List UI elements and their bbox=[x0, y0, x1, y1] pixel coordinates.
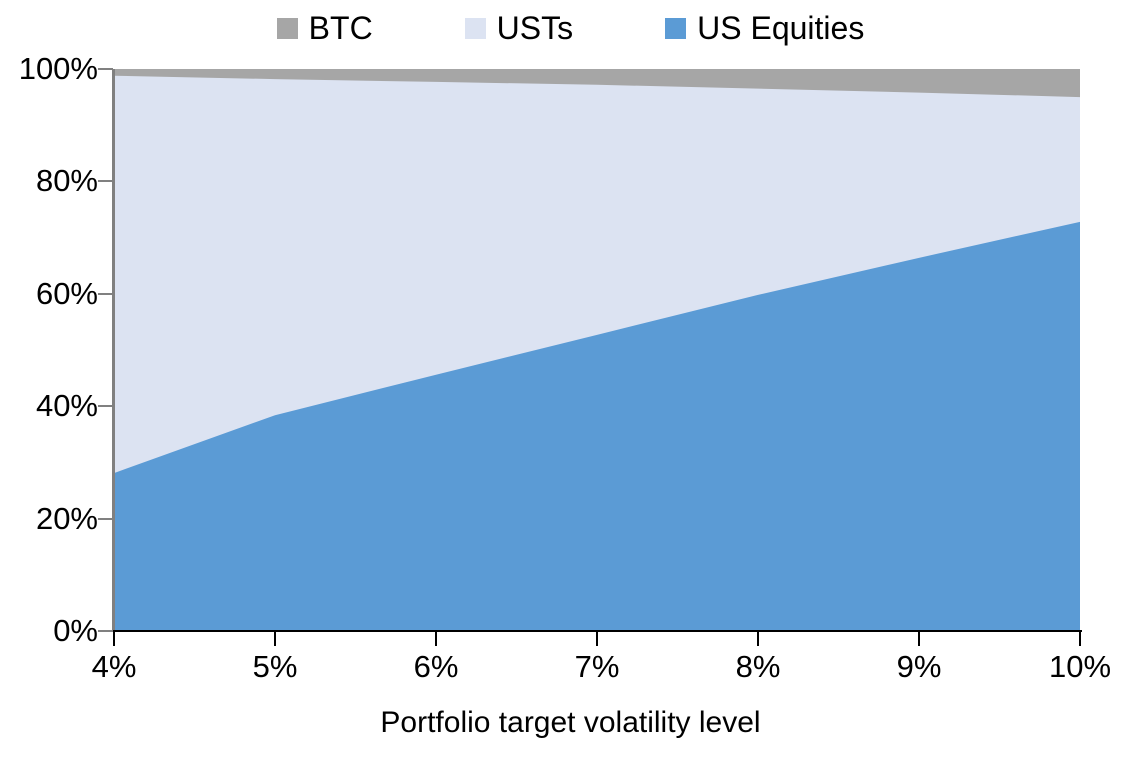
x-axis-tick-label: 4% bbox=[44, 650, 184, 684]
legend-item-us-equities[interactable]: US Equities bbox=[665, 12, 864, 44]
x-axis-tick-label: 8% bbox=[688, 650, 828, 684]
x-axis-tick bbox=[274, 632, 276, 646]
y-axis-tick bbox=[98, 293, 113, 295]
x-axis-tick-label: 6% bbox=[366, 650, 506, 684]
legend-item-btc[interactable]: BTC bbox=[277, 12, 373, 44]
x-axis-tick-label: 9% bbox=[849, 650, 989, 684]
y-axis-tick-label: 20% bbox=[0, 503, 98, 534]
plot-area bbox=[114, 69, 1080, 631]
y-axis-line bbox=[112, 69, 115, 632]
x-axis-tick bbox=[757, 632, 759, 646]
x-axis-tick bbox=[1079, 632, 1081, 646]
x-axis-tick bbox=[113, 632, 115, 646]
x-axis-tick-label: 7% bbox=[527, 650, 667, 684]
legend-item-usts[interactable]: USTs bbox=[465, 12, 573, 44]
y-axis-tick-label: 100% bbox=[0, 53, 98, 84]
x-axis-tick bbox=[918, 632, 920, 646]
y-axis-tick bbox=[98, 405, 113, 407]
y-axis-tick bbox=[98, 180, 113, 182]
legend-label-us-equities: US Equities bbox=[697, 12, 864, 44]
y-axis-tick bbox=[98, 630, 113, 632]
square-swatch-icon bbox=[277, 18, 298, 39]
chart-root: BTC USTs US Equities 0%20%40%60%80%100% … bbox=[0, 0, 1141, 763]
y-axis-tick-label: 0% bbox=[0, 615, 98, 646]
stacked-area-series bbox=[114, 69, 1080, 631]
y-axis-tick-label: 40% bbox=[0, 390, 98, 421]
y-axis-tick-label: 80% bbox=[0, 165, 98, 196]
square-swatch-icon bbox=[465, 18, 486, 39]
y-axis-tick-label: 60% bbox=[0, 278, 98, 309]
x-axis-tick bbox=[596, 632, 598, 646]
y-axis-labels: 0%20%40%60%80%100% bbox=[0, 0, 98, 763]
square-swatch-icon bbox=[665, 18, 686, 39]
chart-legend: BTC USTs US Equities bbox=[0, 8, 1141, 48]
y-axis-tick bbox=[98, 68, 113, 70]
legend-label-usts: USTs bbox=[497, 12, 573, 44]
x-axis-tick bbox=[435, 632, 437, 646]
x-axis-title: Portfolio target volatility level bbox=[0, 706, 1141, 740]
x-axis-tick-label: 5% bbox=[205, 650, 345, 684]
y-axis-tick bbox=[98, 518, 113, 520]
x-axis-tick-label: 10% bbox=[1010, 650, 1141, 684]
legend-label-btc: BTC bbox=[309, 12, 373, 44]
